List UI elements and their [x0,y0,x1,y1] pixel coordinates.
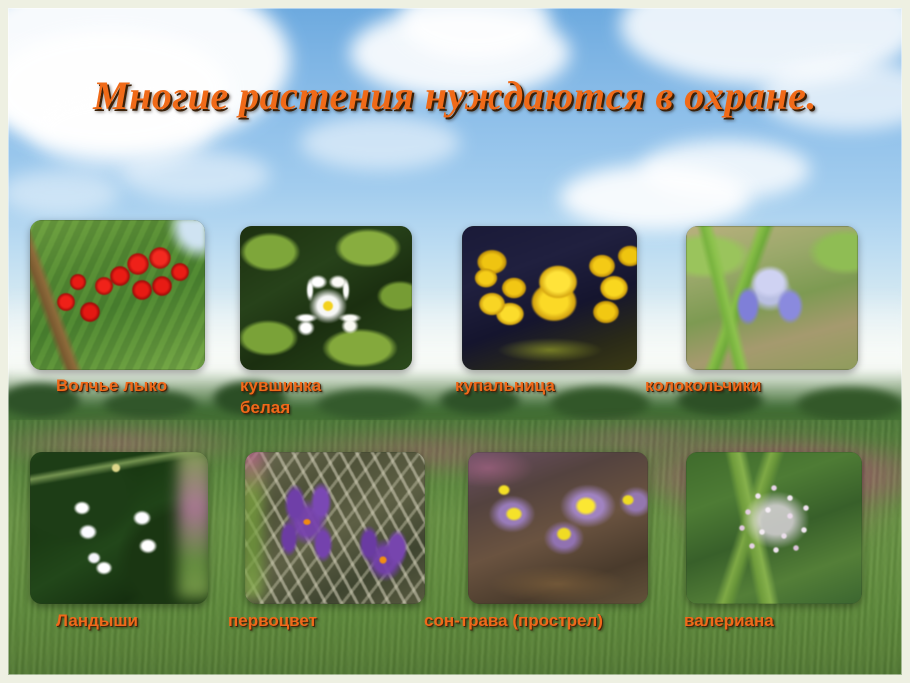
photo-wolf-bast-red-berries[interactable] [30,220,205,370]
presentation-slide: Многие растения нуждаются в охране. Волч… [0,0,910,683]
plant-caption-3: колокольчики [645,375,845,397]
photo-image [686,226,858,370]
photo-image [462,226,637,370]
photo-image [30,452,208,604]
photo-image [240,226,412,370]
cloud-shape [560,165,750,230]
photo-image [686,452,862,604]
cloud-shape [120,150,270,200]
plant-caption-1: кувшинка белая [240,375,410,419]
cloud-shape [300,115,460,170]
photo-image [30,220,205,370]
photo-edge-blur [178,452,208,598]
photo-bluebells[interactable] [686,226,858,370]
photo-edge-blur [245,452,263,598]
plant-caption-7: валериана [684,610,864,632]
photo-highlight [161,220,205,274]
cloud-shape [0,170,120,215]
plant-caption-0: Волчье лыко [56,375,236,397]
plant-caption-5: первоцвет [228,610,408,632]
photo-valerian[interactable] [686,452,862,604]
photo-primrose-crocus[interactable] [245,452,425,604]
slide-title: Многие растения нуждаются в охране. [0,72,910,119]
plant-caption-2: купальница [455,375,635,397]
photo-lily-of-the-valley[interactable] [30,452,208,604]
photo-globeflower[interactable] [462,226,637,370]
photo-image [468,452,648,604]
photo-pasque-flower[interactable] [468,452,648,604]
photo-image [245,452,425,604]
photo-white-water-lily[interactable]: Фото И.Г. Лифшиц 2005 www.ecosystema.ru [240,226,412,370]
plant-caption-6: сон-трава (прострел) [424,610,674,632]
plant-caption-4: Ландыши [56,610,236,632]
